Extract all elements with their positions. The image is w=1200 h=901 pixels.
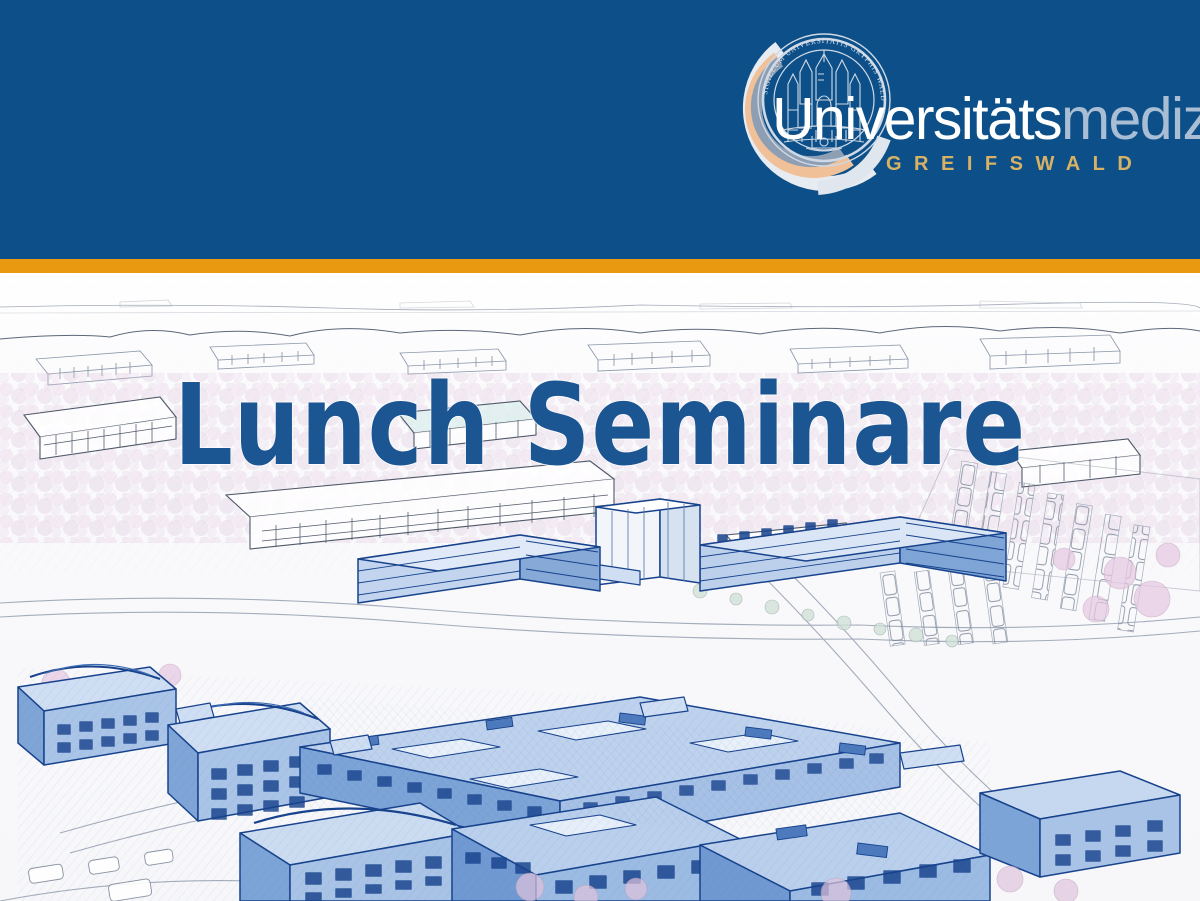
- logo-wordmark-secondary: medizin: [1061, 86, 1200, 152]
- logo-wordmark: Universitätsmedizin: [772, 90, 1200, 149]
- logo-wordmark-primary: Universitäts: [772, 86, 1061, 152]
- logo-city-label: GREIFSWALD: [886, 154, 1144, 174]
- page-title: Lunch Seminare: [48, 370, 1152, 482]
- accent-stripe: [0, 259, 1200, 273]
- poster-page: SIGILLUM UNIVERSITATIS GRYPHIS WALDENSIS…: [0, 0, 1200, 901]
- universitaetsmedizin-greifswald-logo[interactable]: SIGILLUM UNIVERSITATIS GRYPHIS WALDENSIS…: [722, 28, 1182, 198]
